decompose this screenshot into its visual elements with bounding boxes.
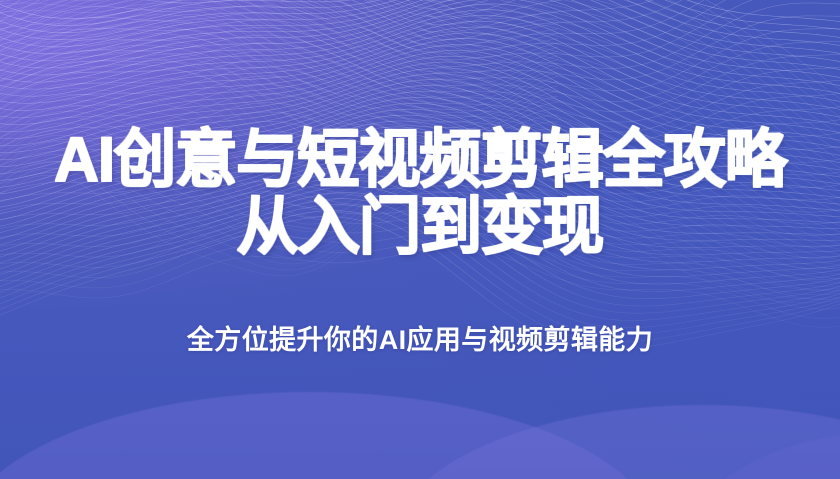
background-blue-right-glow	[0, 0, 840, 479]
background-bottom-shade	[0, 0, 840, 479]
poster-text-stack: AI创意与短视频剪辑全攻略 从入门到变现 全方位提升你的AI应用与视频剪辑能力	[0, 0, 840, 479]
title-line-2: 从入门到变现	[6, 195, 833, 260]
bottom-right-ellipse	[392, 405, 840, 479]
poster-subtitle: 全方位提升你的AI应用与视频剪辑能力	[187, 318, 653, 357]
title-line-1: AI创意与短视频剪辑全攻略	[6, 128, 833, 193]
course-banner-poster: AI创意与短视频剪辑全攻略 从入门到变现 全方位提升你的AI应用与视频剪辑能力	[0, 0, 840, 479]
bottom-left-ellipse	[0, 392, 660, 479]
background-base-gradient	[0, 0, 840, 479]
flowing-wire-mesh-icon	[0, 0, 840, 479]
poster-title: AI创意与短视频剪辑全攻略 从入门到变现	[0, 128, 840, 260]
bottom-far-right-ellipse	[690, 430, 840, 479]
background-purple-wash	[0, 0, 840, 479]
